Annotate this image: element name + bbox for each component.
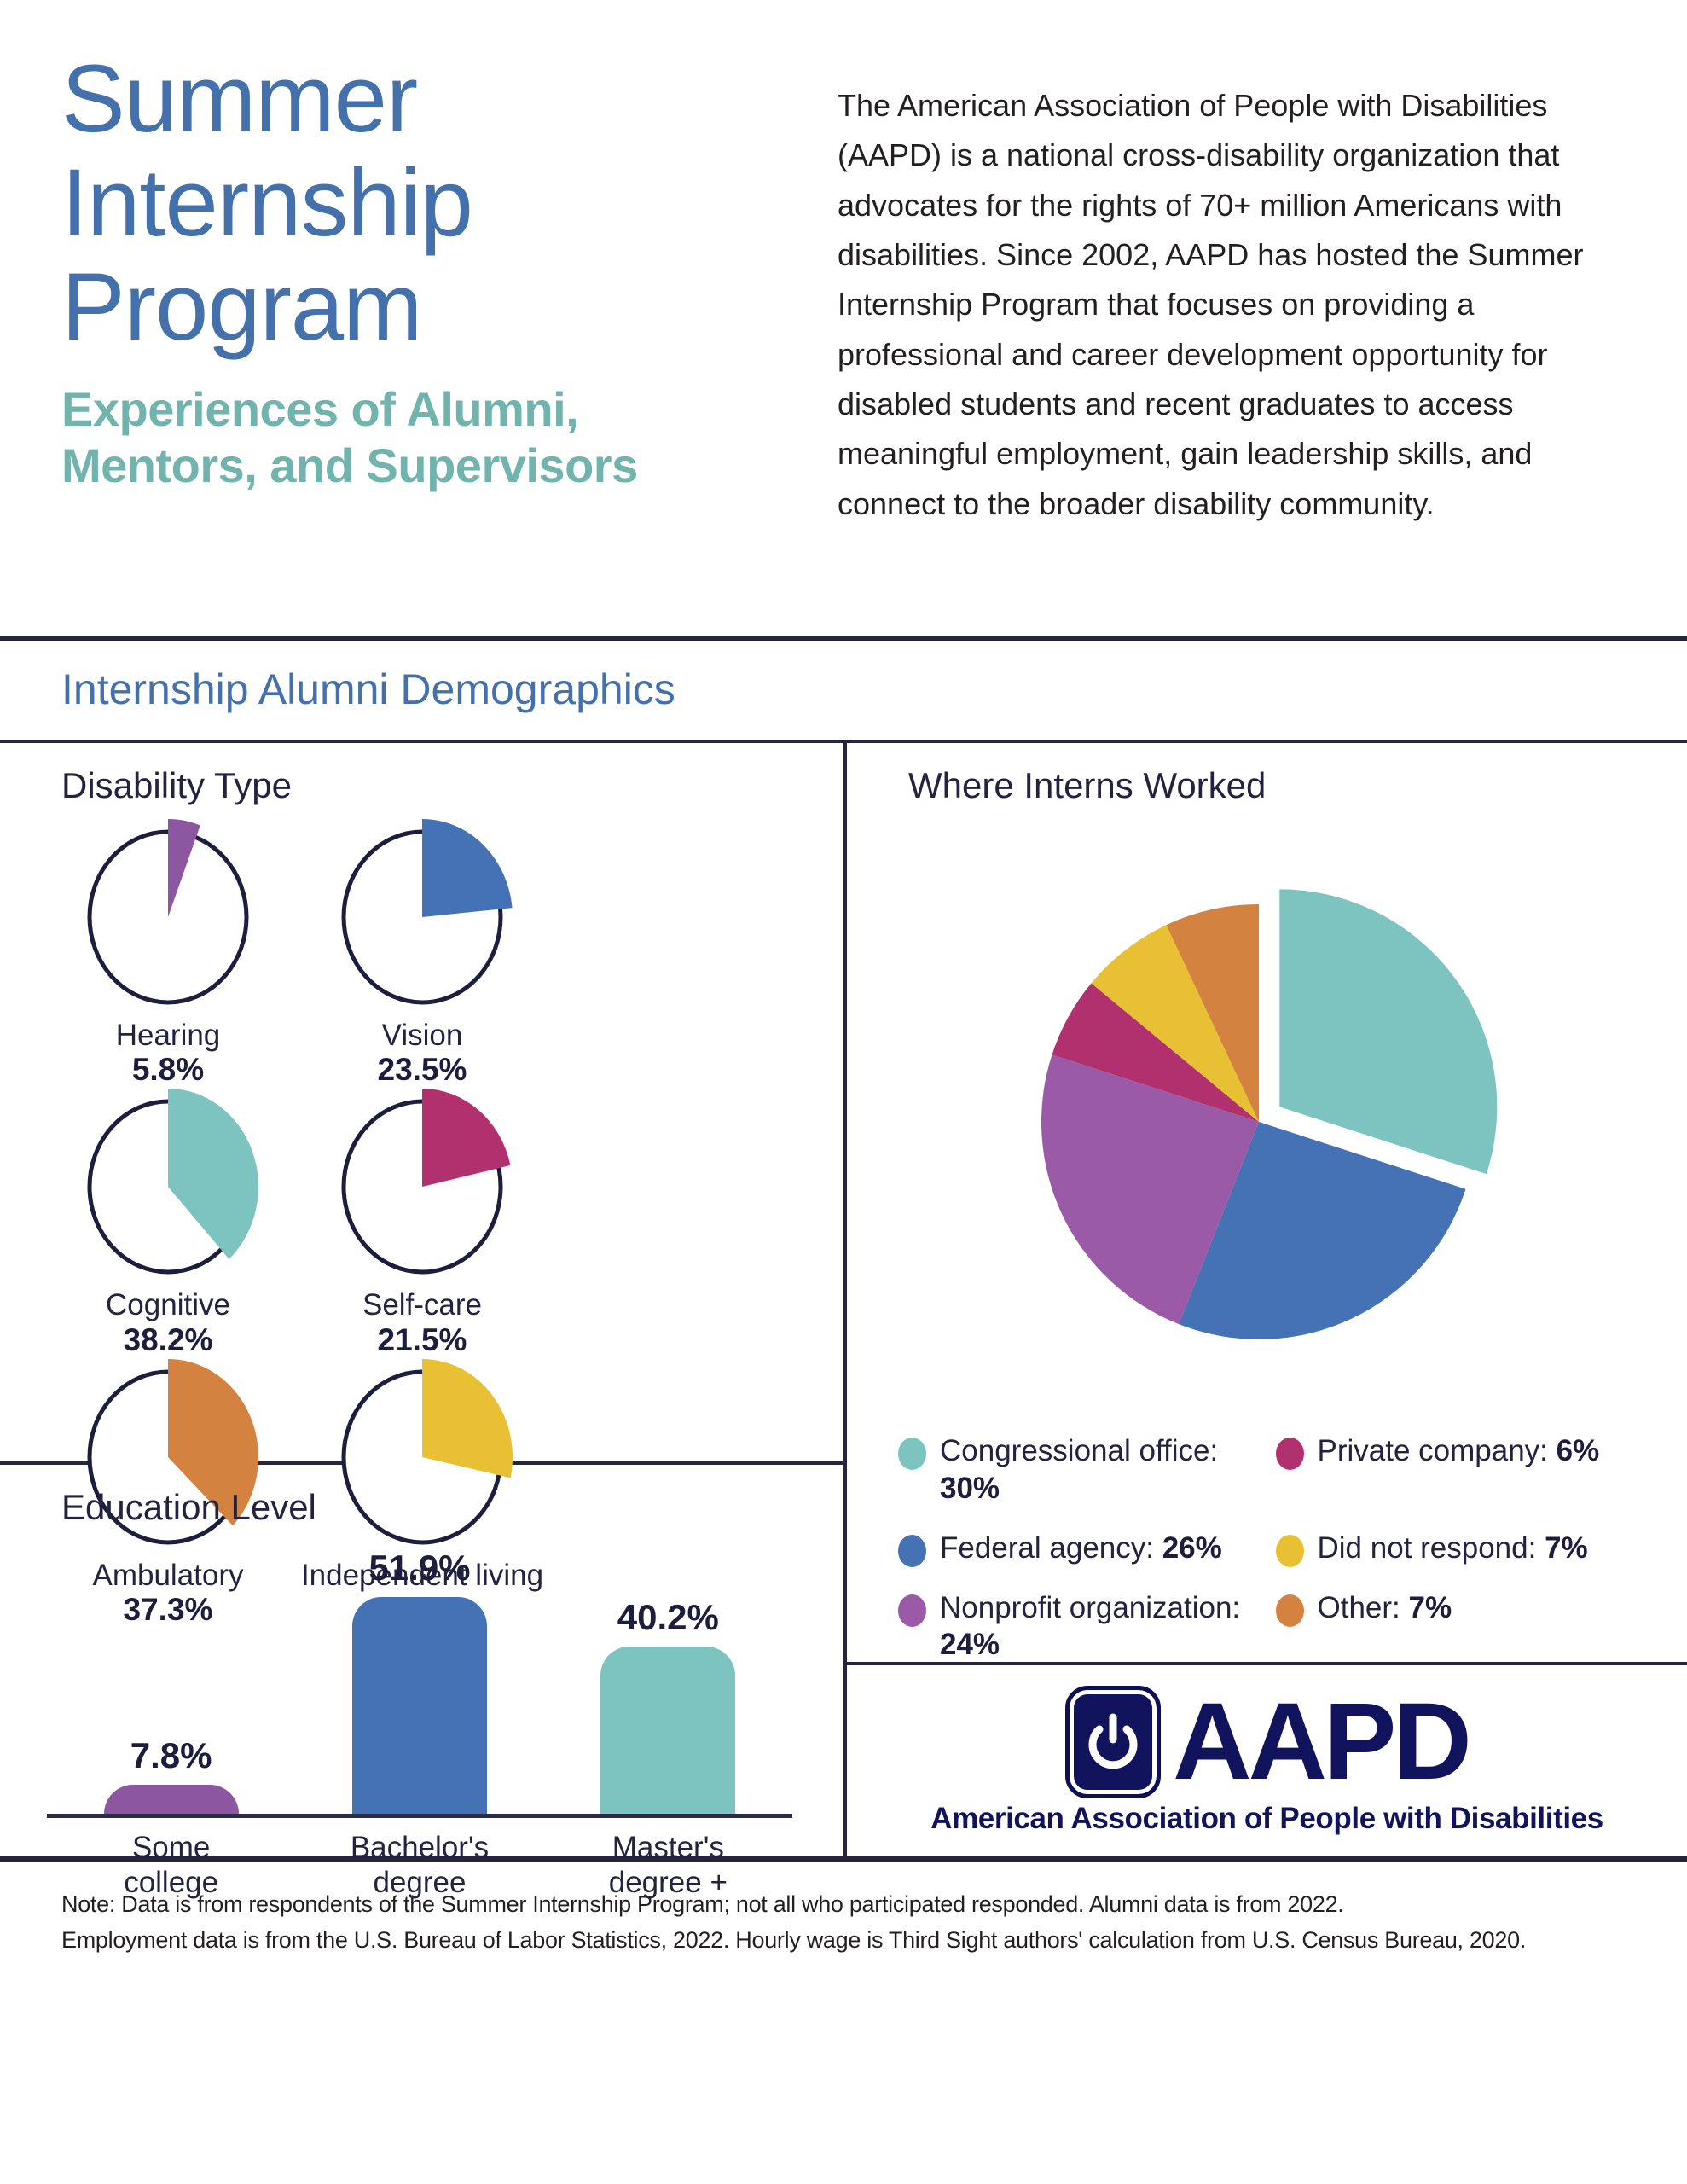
education-label-some-college-line2: college (69, 1865, 274, 1900)
education-bar-shape-masters (600, 1647, 735, 1818)
legend-name-other: Other: (1318, 1591, 1400, 1624)
right-column: Where Interns Worked Congressional offic… (847, 743, 1687, 1856)
legend-value-private-company: 6% (1557, 1434, 1600, 1467)
legend-dot-federal-agency (898, 1535, 926, 1567)
pie-slice-congressional-office (1279, 889, 1497, 1174)
legend-dot-private-company (1276, 1438, 1304, 1470)
legend-text-private-company: Private company: 6% (1318, 1432, 1600, 1470)
education-value-bachelors: 51.9% (317, 1548, 522, 1589)
disability-label-self-care: Self-care (295, 1288, 549, 1321)
education-level-panel: Education Level 7.8% 51.9% 40.2% (0, 1465, 843, 1901)
page-title-line-3: Program (61, 255, 820, 359)
education-label-masters-line1: Master's (565, 1830, 770, 1865)
legend-dot-did-not-respond (1276, 1535, 1304, 1567)
education-label-bachelors-line1: Bachelor's (317, 1830, 522, 1865)
education-value-masters: 40.2% (565, 1597, 770, 1638)
aapd-logo-panel: AAPD American Association of People with… (847, 1665, 1687, 1856)
education-label-masters-line2: degree + (565, 1865, 770, 1900)
disability-label-hearing: Hearing (41, 1019, 295, 1052)
disability-label-cognitive: Cognitive (41, 1288, 295, 1321)
legend-text-did-not-respond: Did not respond: 7% (1318, 1530, 1588, 1567)
legend-value-other: 7% (1409, 1591, 1452, 1624)
legend-value-did-not-respond: 7% (1545, 1531, 1588, 1565)
header-title-block: Summer Internship Program Experiences of… (61, 47, 820, 636)
page-subtitle-line-1: Experiences of Alumni, (61, 381, 820, 438)
interns-legend: Congressional office: 30% Private compan… (847, 1420, 1687, 1686)
intro-paragraph: The American Association of People with … (838, 81, 1626, 529)
education-label-some-college-line1: Some (69, 1830, 274, 1865)
disability-value-self-care: 21.5% (295, 1322, 549, 1358)
disability-gauge-hearing: Hearing 5.8% (41, 825, 295, 1088)
education-value-some-college: 7.8% (69, 1735, 274, 1776)
legend-dot-other (1276, 1594, 1304, 1627)
legend-value-nonprofit-organization: 24% (940, 1628, 1000, 1661)
education-axis-line (47, 1814, 792, 1818)
page-title: Summer Internship Program (61, 47, 820, 359)
education-bar-some-college: 7.8% (69, 1735, 274, 1818)
legend-dot-nonprofit-organization (898, 1594, 926, 1627)
legend-item-did-not-respond: Did not respond: 7% (1276, 1530, 1654, 1567)
section-heading: Internship Alumni Demographics (61, 665, 1687, 714)
page-title-line-2: Internship (61, 151, 820, 255)
legend-item-private-company: Private company: 6% (1276, 1432, 1654, 1507)
legend-name-federal-agency: Federal agency: (940, 1531, 1154, 1565)
education-bar-masters: 40.2% (565, 1597, 770, 1818)
header: Summer Internship Program Experiences of… (0, 0, 1687, 636)
disability-gauge-vision: Vision 23.5% (295, 825, 549, 1088)
legend-item-nonprofit-organization: Nonprofit organization: 24% (898, 1589, 1276, 1664)
legend-name-congressional-office: Congressional office: (940, 1434, 1218, 1467)
legend-text-other: Other: 7% (1318, 1589, 1452, 1627)
footer-note-line-2: Employment data is from the U.S. Bureau … (61, 1923, 1636, 1959)
aapd-wordmark: AAPD (1173, 1690, 1469, 1794)
legend-dot-congressional-office (898, 1438, 926, 1470)
education-bar-labels: Some college Bachelor's degree Master's … (47, 1830, 792, 1901)
body-grid: Disability Type Hearing 5.8% (0, 743, 1687, 1856)
disability-gauge-cognitive: Cognitive 38.2% (41, 1095, 295, 1357)
pie-gauge-vision-chart (328, 825, 516, 1008)
disability-value-cognitive: 38.2% (41, 1322, 295, 1358)
disability-value-vision: 23.5% (295, 1052, 549, 1088)
education-label-some-college: Some college (69, 1830, 274, 1901)
education-label-bachelors-line2: degree (317, 1865, 522, 1900)
disability-label-vision: Vision (295, 1019, 549, 1052)
pie-gauge-cognitive-chart (74, 1095, 262, 1278)
education-label-masters: Master's degree + (565, 1830, 770, 1901)
aapd-logo-top: AAPD (1065, 1686, 1469, 1798)
aapd-logo: AAPD American Association of People with… (930, 1686, 1603, 1836)
education-bar-bachelors: 51.9% (317, 1548, 522, 1819)
legend-item-other: Other: 7% (1276, 1589, 1654, 1664)
pie-gauge-hearing-chart (74, 825, 262, 1008)
legend-text-federal-agency: Federal agency: 26% (940, 1530, 1222, 1567)
pie-gauge-self-care-chart (328, 1095, 516, 1278)
legend-name-private-company: Private company: (1318, 1434, 1548, 1467)
aapd-tagline: American Association of People with Disa… (930, 1802, 1603, 1836)
legend-text-congressional-office: Congressional office: 30% (940, 1432, 1272, 1507)
legend-value-congressional-office: 30% (940, 1472, 1000, 1505)
left-column: Disability Type Hearing 5.8% (0, 743, 847, 1856)
disability-type-panel: Disability Type Hearing 5.8% (0, 743, 843, 1465)
disability-value-hearing: 5.8% (41, 1052, 295, 1088)
legend-text-nonprofit-organization: Nonprofit organization: 24% (940, 1589, 1272, 1664)
where-interns-worked-panel: Where Interns Worked Congressional offic… (847, 743, 1687, 1665)
legend-name-nonprofit-organization: Nonprofit organization: (940, 1591, 1240, 1624)
education-level-title: Education Level (0, 1465, 843, 1528)
legend-name-did-not-respond: Did not respond: (1318, 1531, 1537, 1565)
page-subtitle-line-2: Mentors, and Supervisors (61, 438, 820, 494)
education-bar-chart: 7.8% 51.9% 40.2% (47, 1536, 792, 1818)
page-subtitle: Experiences of Alumni, Mentors, and Supe… (61, 381, 820, 493)
where-interns-worked-title: Where Interns Worked (847, 743, 1687, 806)
header-intro-block: The American Association of People with … (820, 47, 1636, 636)
education-bar-row: 7.8% 51.9% 40.2% (47, 1562, 792, 1818)
legend-item-federal-agency: Federal agency: 26% (898, 1530, 1276, 1567)
legend-value-federal-agency: 26% (1162, 1531, 1222, 1565)
education-label-bachelors: Bachelor's degree (317, 1830, 522, 1901)
interns-pie-chart (977, 823, 1557, 1420)
disability-type-title: Disability Type (0, 743, 843, 806)
section-heading-bar: Internship Alumni Demographics (0, 641, 1687, 740)
power-icon (1065, 1686, 1161, 1798)
legend-item-congressional-office: Congressional office: 30% (898, 1432, 1276, 1507)
education-bar-shape-bachelors (352, 1597, 487, 1819)
page-title-line-1: Summer (61, 47, 820, 151)
disability-gauge-self-care: Self-care 21.5% (295, 1095, 549, 1357)
